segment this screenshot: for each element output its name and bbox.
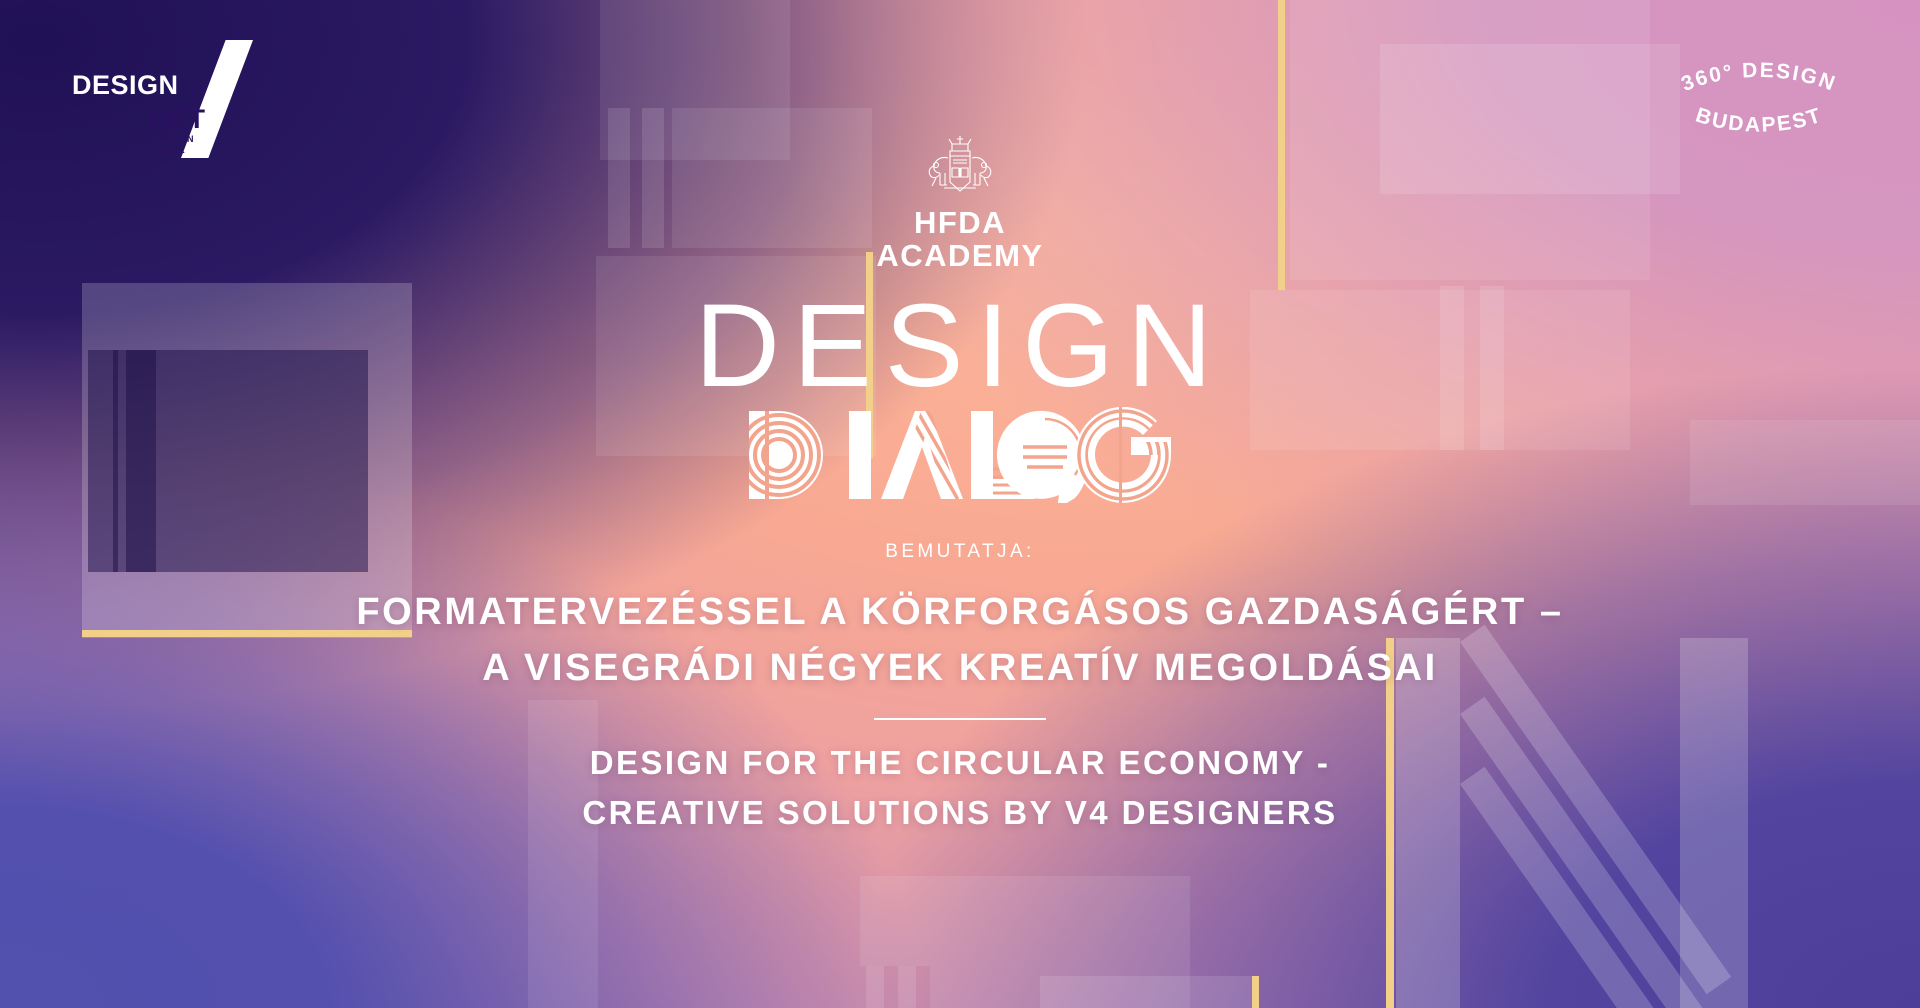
dialog-letter-g — [1075, 407, 1171, 503]
dialog-wordmark — [745, 407, 1175, 503]
logo-het-text: HÉT — [150, 106, 206, 133]
headline-hungarian: FORMATERVEZÉSSEL A KÖRFORGÁSOS GAZDASÁGÉ… — [356, 585, 1563, 697]
event-poster: DESIGN HÉT DESIGN WEEK 360° DESIGN BUDAP… — [0, 0, 1920, 1008]
design-het-logo[interactable]: DESIGN HÉT DESIGN WEEK — [72, 40, 247, 158]
badge-top-text: 360° DESIGN — [1678, 59, 1839, 96]
logo-sub-line2: WEEK — [156, 145, 194, 156]
design-wordmark: DESIGN — [695, 287, 1225, 405]
360-design-budapest-badge[interactable]: 360° DESIGN BUDAPEST — [1644, 36, 1874, 154]
presenter-label: BEMUTATJA: — [885, 541, 1034, 563]
logo-sub-line1: DESIGN — [156, 134, 194, 145]
headline-divider — [874, 718, 1046, 720]
dialog-letter-d — [745, 407, 823, 503]
headline-hu-line1: FORMATERVEZÉSSEL A KÖRFORGÁSOS GAZDASÁGÉ… — [356, 585, 1563, 641]
logo-design-text: DESIGN — [72, 72, 179, 99]
hfda-line2: ACADEMY — [876, 240, 1043, 273]
headline-en-line1: DESIGN FOR THE CIRCULAR ECONOMY - — [582, 738, 1337, 788]
headline-en-line2: CREATIVE SOLUTIONS BY V4 DESIGNERS — [582, 788, 1337, 838]
badge-bottom-text: BUDAPEST — [1693, 104, 1825, 137]
poster-content: DESIGN HÉT DESIGN WEEK 360° DESIGN BUDAP… — [0, 0, 1920, 1008]
logo-subtitle: DESIGN WEEK — [156, 134, 194, 157]
hfda-crest-icon — [914, 128, 1006, 200]
hfda-academy-name: HFDA ACADEMY — [876, 207, 1043, 273]
dialog-letter-a — [881, 407, 980, 503]
headline-hu-line2: A VISEGRÁDI NÉGYEK KREATÍV MEGOLDÁSAI — [356, 641, 1563, 697]
dialog-letter-i — [849, 411, 871, 499]
headline-english: DESIGN FOR THE CIRCULAR ECONOMY - CREATI… — [582, 738, 1337, 837]
hfda-line1: HFDA — [876, 207, 1043, 240]
